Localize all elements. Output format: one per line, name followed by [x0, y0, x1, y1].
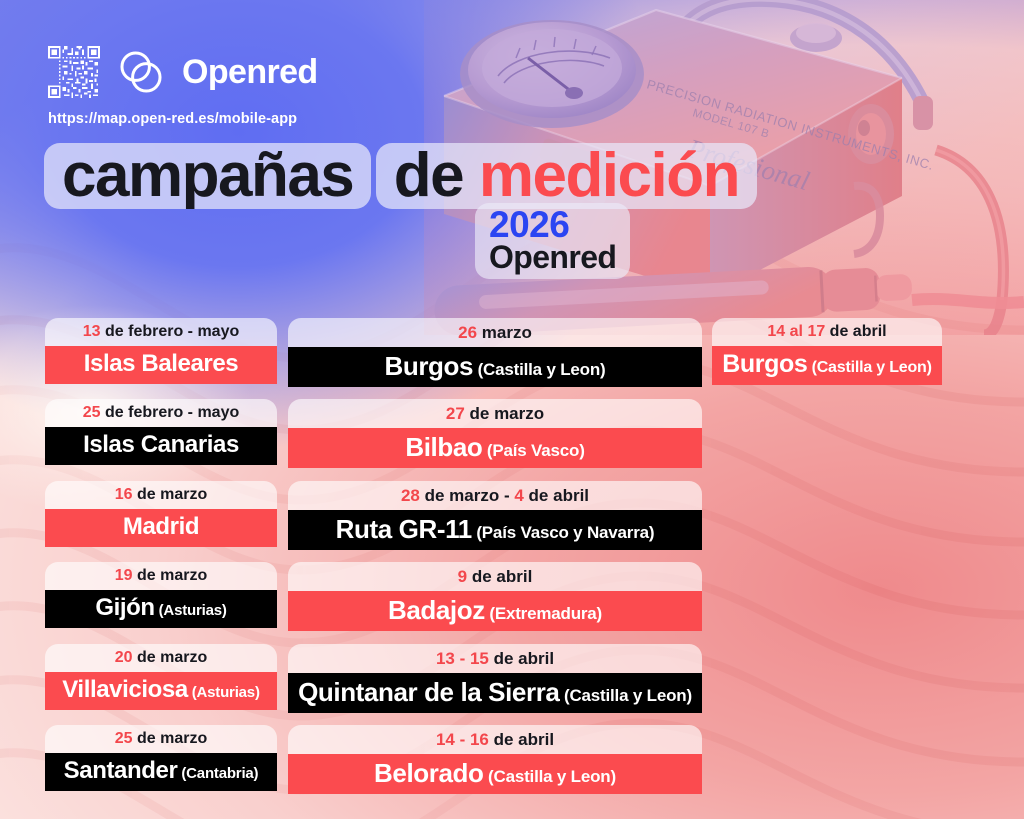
campaign-location: Madrid [45, 509, 277, 547]
poster-header: Openred https://map.open-red.es/mobile-a… [48, 46, 318, 127]
campaign-card[interactable]: 19 de marzoGijón (Asturias) [45, 562, 277, 628]
campaign-date: 13 de febrero - mayo [45, 318, 277, 346]
campaign-location: Santander (Cantabria) [45, 753, 277, 791]
campaign-region: (Extremadura) [485, 604, 602, 623]
campaign-date-number: 13 [83, 323, 101, 340]
campaign-date-text: de marzo [133, 649, 208, 666]
campaign-date-number: 25 [83, 404, 101, 421]
campaign-location: Belorado (Castilla y Leon) [288, 754, 702, 794]
campaign-region: (Castilla y Leon) [559, 686, 691, 705]
campaign-card[interactable]: 13 - 15 de abrilQuintanar de la Sierra (… [288, 644, 702, 713]
campaign-date-text: de abril [467, 567, 532, 586]
poster-title: campañas de medición [44, 143, 757, 209]
campaign-city: Burgos [384, 351, 473, 381]
campaign-card[interactable]: 25 de marzoSantander (Cantabria) [45, 725, 277, 791]
campaign-date-number: 13 - 15 [436, 649, 489, 668]
campaign-date-text: de marzo [133, 486, 208, 503]
campaign-date-number: 14 al 17 [767, 323, 825, 340]
campaign-city: Burgos [722, 350, 807, 378]
campaign-date-text-2: de abril [524, 486, 589, 505]
campaign-date-text: de marzo [133, 567, 208, 584]
year-badge: 2026 Openred [475, 203, 630, 279]
year-brand: Openred [489, 241, 616, 274]
campaign-date: 27 de marzo [288, 399, 702, 428]
campaign-location: Quintanar de la Sierra (Castilla y Leon) [288, 673, 702, 713]
title-line-2-prefix: de [394, 141, 479, 210]
campaign-city: Gijón [95, 594, 154, 621]
campaign-city: Santander [64, 757, 178, 784]
campaign-location: Burgos (Castilla y Leon) [712, 346, 942, 385]
campaign-date-text: de marzo [133, 730, 208, 747]
brand-row: Openred [48, 46, 318, 98]
campaign-date-number: 20 [115, 649, 133, 666]
title-line-2: de medición [376, 143, 757, 209]
campaign-date-number: 19 [115, 567, 133, 584]
campaign-date-text: de febrero - mayo [101, 323, 240, 340]
campaign-date-number: 14 - 16 [436, 730, 489, 749]
campaign-card[interactable]: 26 marzoBurgos (Castilla y Leon) [288, 318, 702, 387]
campaign-city: Villaviciosa [62, 676, 188, 703]
campaign-card[interactable]: 20 de marzoVillaviciosa (Asturias) [45, 644, 277, 710]
campaign-region: (Castilla y Leon) [484, 767, 616, 786]
brand-name: Openred [182, 55, 318, 89]
campaign-date: 16 de marzo [45, 481, 277, 509]
campaign-location: Islas Baleares [45, 346, 277, 384]
campaign-city: Madrid [123, 513, 199, 540]
campaign-date: 14 - 16 de abril [288, 725, 702, 754]
campaign-date-text: de marzo [465, 404, 544, 423]
campaign-card[interactable]: 16 de marzoMadrid [45, 481, 277, 547]
campaign-region: (Cantabria) [177, 765, 258, 782]
campaign-card[interactable]: 25 de febrero - mayoIslas Canarias [45, 399, 277, 465]
campaign-date-number: 27 [446, 404, 465, 423]
campaign-city: Quintanar de la Sierra [298, 677, 559, 707]
qr-code-icon[interactable] [48, 46, 100, 98]
campaign-date: 19 de marzo [45, 562, 277, 590]
campaign-region: (Asturias) [188, 684, 260, 701]
campaign-card[interactable]: 14 - 16 de abrilBelorado (Castilla y Leo… [288, 725, 702, 794]
campaign-date-number-2: 4 [514, 486, 523, 505]
campaign-date-text: de abril [489, 649, 554, 668]
campaign-date: 26 marzo [288, 318, 702, 347]
title-line-1: campañas [44, 143, 371, 209]
campaign-region: (País Vasco y Navarra) [472, 523, 655, 542]
campaign-date-number: 25 [115, 730, 133, 747]
campaign-city: Belorado [374, 758, 483, 788]
campaign-date: 13 - 15 de abril [288, 644, 702, 673]
openred-venn-logo-icon[interactable] [118, 49, 164, 95]
campaign-location: Ruta GR-11 (País Vasco y Navarra) [288, 510, 702, 550]
campaign-location: Islas Canarias [45, 427, 277, 465]
campaign-card[interactable]: 27 de marzoBilbao (País Vasco) [288, 399, 702, 468]
campaign-location: Bilbao (País Vasco) [288, 428, 702, 468]
campaign-card[interactable]: 9 de abrilBadajoz (Extremadura) [288, 562, 702, 631]
campaign-date: 25 de marzo [45, 725, 277, 753]
title-line-2-accent: medición [479, 141, 739, 210]
campaign-date: 20 de marzo [45, 644, 277, 672]
campaign-city: Islas Canarias [83, 431, 239, 458]
campaign-date-text: de abril [489, 730, 554, 749]
campaign-region: (Castilla y Leon) [473, 360, 605, 379]
campaign-region: (País Vasco) [482, 441, 584, 460]
campaign-date-number: 16 [115, 486, 133, 503]
campaign-date-number: 26 [458, 323, 477, 342]
campaign-city: Bilbao [405, 432, 482, 462]
campaign-date-text: de febrero - mayo [101, 404, 240, 421]
campaign-card[interactable]: 13 de febrero - mayoIslas Baleares [45, 318, 277, 384]
campaign-date-text: de marzo - [420, 486, 514, 505]
campaign-card[interactable]: 28 de marzo - 4 de abrilRuta GR-11 (País… [288, 481, 702, 550]
campaign-region: (Asturias) [155, 602, 227, 619]
poster-root: PRECISION RADIATION INSTRUMENTS, INC. MO… [0, 0, 1024, 819]
campaign-city: Islas Baleares [84, 350, 239, 377]
campaign-date-text: de abril [825, 323, 886, 340]
campaign-region: (Castilla y Leon) [807, 359, 931, 376]
campaign-date: 14 al 17 de abril [712, 318, 942, 346]
campaign-date: 25 de febrero - mayo [45, 399, 277, 427]
campaign-date-text: marzo [477, 323, 532, 342]
campaign-city: Badajoz [388, 595, 485, 625]
campaign-city: Ruta GR-11 [336, 514, 472, 544]
campaign-location: Badajoz (Extremadura) [288, 591, 702, 631]
campaign-location: Gijón (Asturias) [45, 590, 277, 628]
campaign-date: 28 de marzo - 4 de abril [288, 481, 702, 510]
campaign-location: Burgos (Castilla y Leon) [288, 347, 702, 387]
campaign-location: Villaviciosa (Asturias) [45, 672, 277, 710]
map-url[interactable]: https://map.open-red.es/mobile-app [48, 111, 318, 127]
campaign-date: 9 de abril [288, 562, 702, 591]
campaign-date-number: 28 [401, 486, 420, 505]
campaign-date-number: 9 [458, 567, 467, 586]
campaign-card[interactable]: 14 al 17 de abrilBurgos (Castilla y Leon… [712, 318, 942, 385]
